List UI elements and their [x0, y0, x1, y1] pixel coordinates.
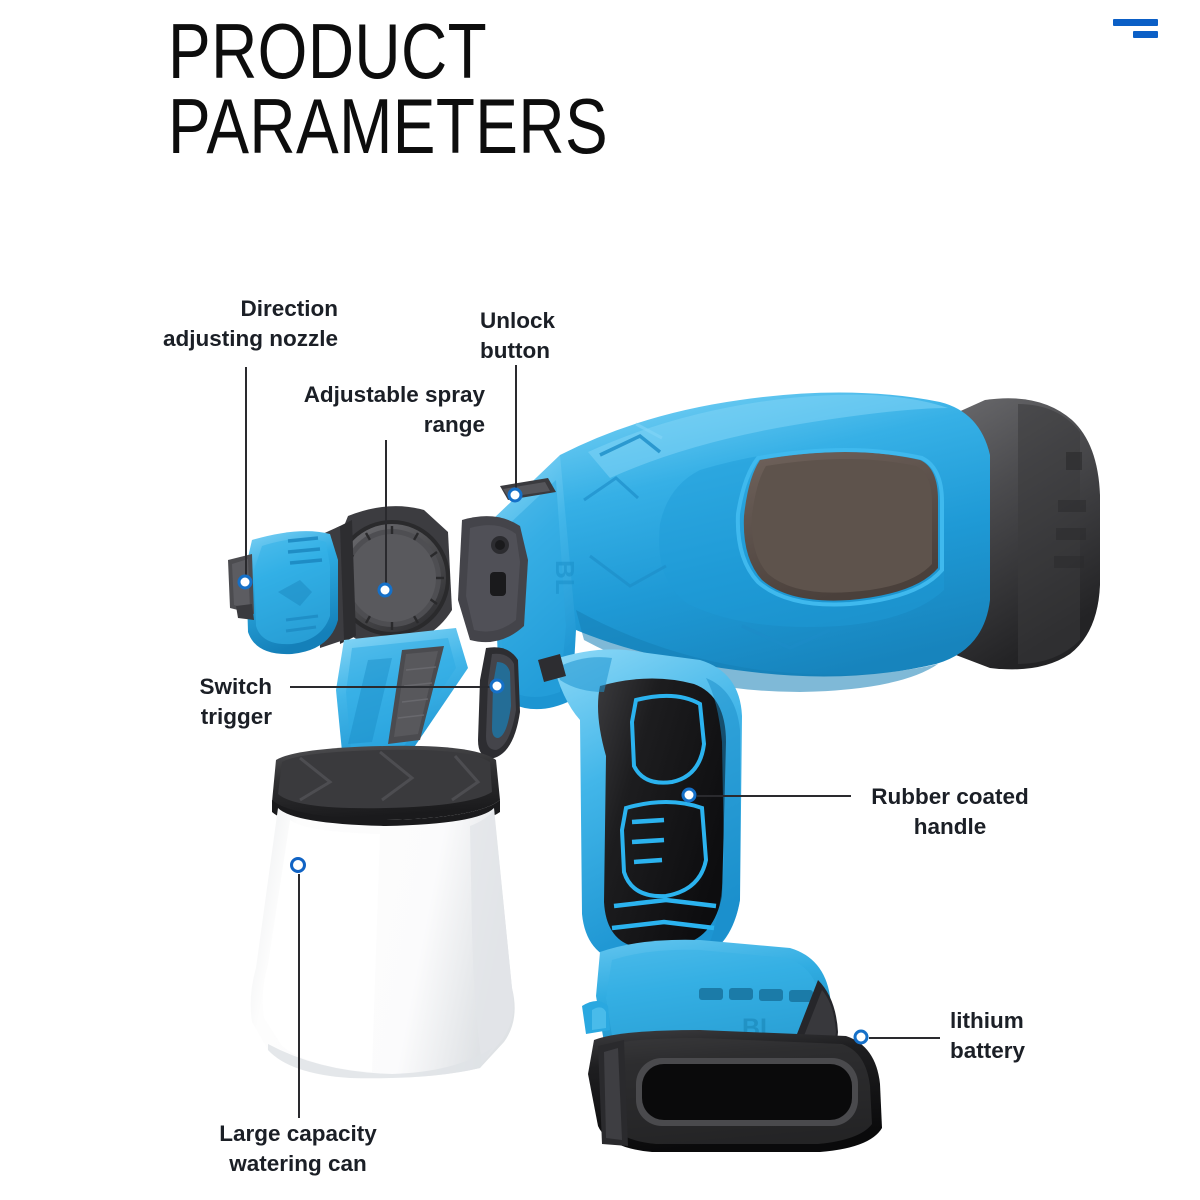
callout-label-large-capacity-watering-can: Large capacity watering can: [168, 1119, 428, 1178]
callout-label-direction-adjusting-nozzle: Direction adjusting nozzle: [78, 294, 338, 353]
spray-range-knob: [334, 506, 452, 646]
page-title: PRODUCT PARAMETERS: [168, 14, 742, 164]
cup-collar: [272, 746, 500, 830]
callout-label-unlock-button: Unlock button: [480, 306, 680, 365]
callout-label-rubber-coated-handle: Rubber coated handle: [850, 782, 1050, 841]
leader-line-lithium-battery: [869, 1037, 940, 1039]
callout-dot-adjustable-spray-range[interactable]: [378, 583, 393, 598]
callout-dot-switch-trigger[interactable]: [490, 679, 505, 694]
callout-dot-lithium-battery[interactable]: [854, 1030, 869, 1045]
rubber-coated-handle: [538, 649, 742, 962]
large-capacity-watering-can: [251, 808, 515, 1078]
dash-bar-top: [1113, 19, 1158, 26]
callout-dot-large-capacity-watering-can[interactable]: [290, 857, 306, 873]
double-dash-icon: [1080, 0, 1200, 60]
callout-label-lithium-battery: lithium battery: [950, 1006, 1150, 1065]
product-parameters-page: PRODUCT PARAMETERS: [0, 0, 1200, 1200]
callout-dot-direction-adjusting-nozzle[interactable]: [238, 575, 253, 590]
callout-label-switch-trigger: Switch trigger: [72, 672, 272, 731]
dash-bar-bottom: [1133, 31, 1158, 38]
lithium-battery: [582, 1001, 882, 1152]
callout-label-adjustable-spray-range: Adjustable spray range: [225, 380, 485, 439]
motor-housing: [560, 392, 1100, 692]
svg-text:BL: BL: [550, 560, 580, 595]
cup-neck-strut: [336, 628, 468, 772]
callout-dot-rubber-coated-handle[interactable]: [682, 788, 697, 803]
leader-line-rubber-coated-handle: [697, 795, 851, 797]
leader-line-large-capacity-watering-can: [298, 874, 300, 1118]
leader-line-unlock-button: [515, 365, 517, 495]
battery-mount: BL: [596, 940, 838, 1058]
switch-trigger: [478, 647, 520, 758]
leader-line-switch-trigger: [290, 686, 497, 688]
callout-dot-unlock-button[interactable]: [508, 488, 523, 503]
battery-bl-text: BL: [742, 1014, 775, 1042]
leader-line-adjustable-spray-range: [385, 440, 387, 590]
